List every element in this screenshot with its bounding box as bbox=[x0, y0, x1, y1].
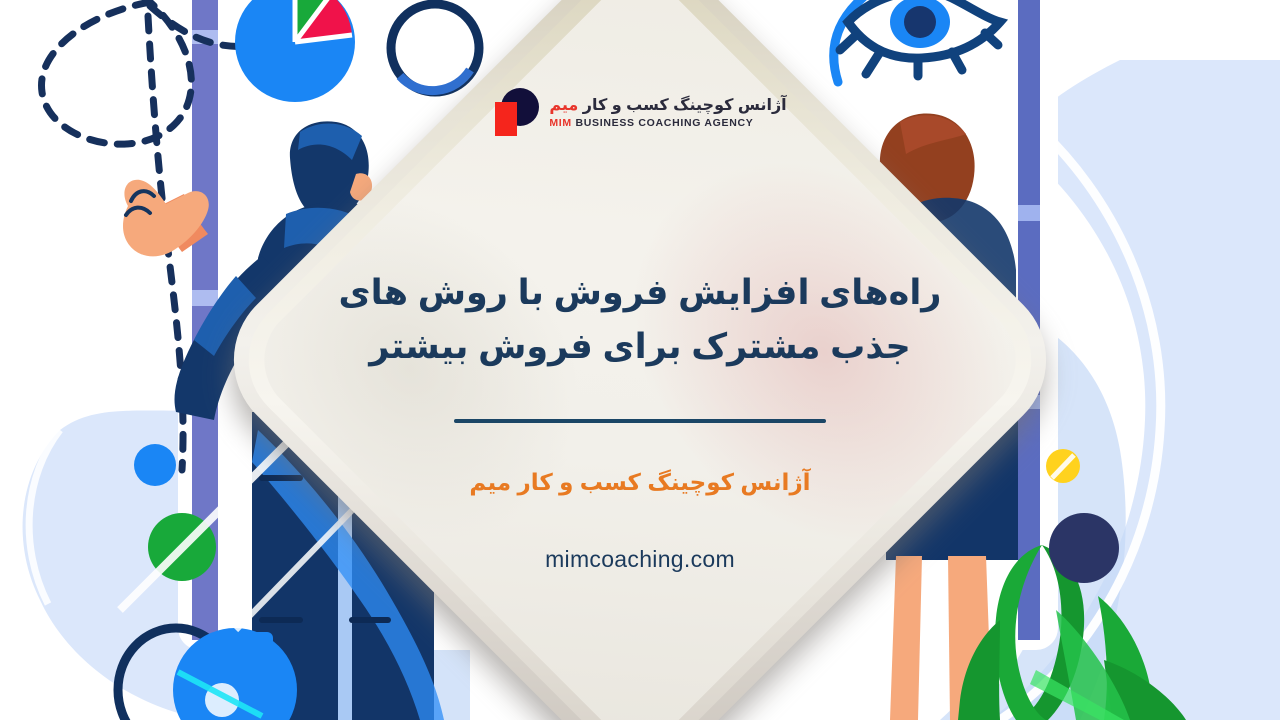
logo-english-name: MIM BUSINESS COACHING AGENCY bbox=[549, 118, 753, 129]
dot-yellow bbox=[1046, 449, 1080, 483]
brand-subtitle: آژانس کوچینگ کسب و کار میم bbox=[469, 469, 810, 496]
card-content: آژانس کوچینگ کسب و کار میم MIM BUSINESS … bbox=[290, 10, 990, 710]
logo-persian-accent: میم bbox=[549, 97, 578, 114]
logo-english-main: BUSINESS COACHING AGENCY bbox=[572, 117, 754, 129]
logo-persian-name: آژانس کوچینگ کسب و کار میم bbox=[549, 98, 786, 114]
poster-canvas: آژانس کوچینگ کسب و کار میم MIM BUSINESS … bbox=[0, 0, 1280, 720]
logo-persian-main: آژانس کوچینگ کسب و کار bbox=[578, 97, 786, 114]
title-divider bbox=[454, 419, 826, 423]
logo-english-accent: MIM bbox=[549, 117, 572, 129]
logo-text-block: آژانس کوچینگ کسب و کار میم MIM BUSINESS … bbox=[549, 98, 786, 129]
website-url[interactable]: mimcoaching.com bbox=[545, 546, 735, 573]
dot-navy bbox=[1049, 513, 1119, 583]
dot-blue bbox=[134, 444, 176, 486]
brand-logo[interactable]: آژانس کوچینگ کسب و کار میم MIM BUSINESS … bbox=[493, 88, 786, 138]
page-title: راه‌های افزایش فروش با روش های جذب مشترک… bbox=[320, 266, 960, 375]
logo-rect-shape bbox=[495, 102, 517, 136]
logo-mark-icon bbox=[493, 88, 539, 138]
